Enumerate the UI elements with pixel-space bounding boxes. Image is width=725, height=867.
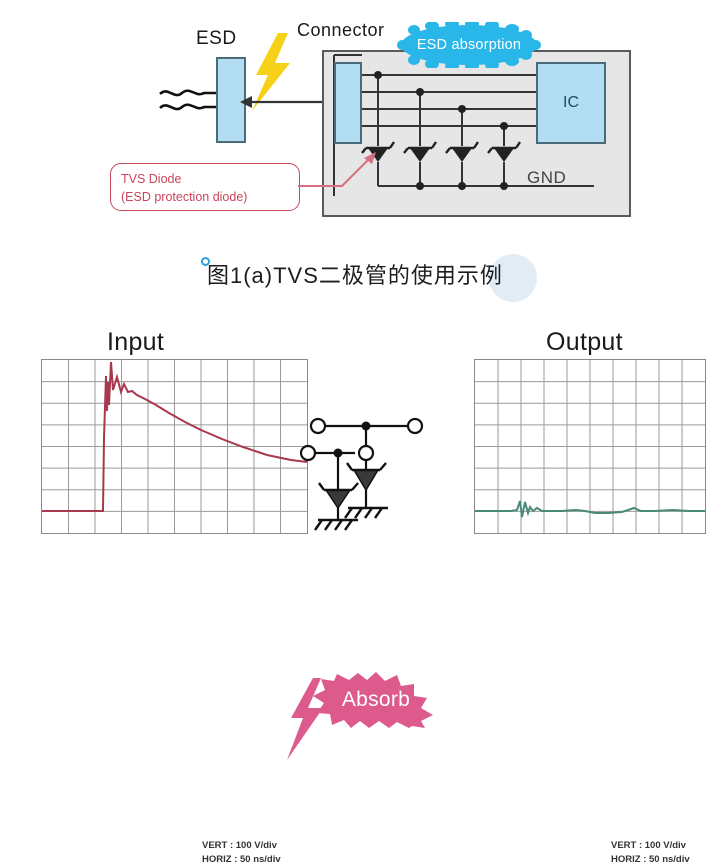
tvs-two-diode-schematic (300, 412, 430, 542)
absorb-badge-text: Absorb (313, 672, 439, 728)
tvs-diode-symbol (362, 142, 520, 162)
gnd-label: GND (527, 168, 566, 188)
tvs-callout-line2: (ESD protection diode) (121, 188, 299, 206)
input-scope-screen (41, 359, 308, 534)
input-scope-title: Input (107, 328, 164, 357)
tvs-diode-callout: TVS Diode (ESD protection diode) (110, 163, 300, 211)
absorb-badge: Absorb (313, 672, 439, 728)
output-scope-settings: VERT : 100 V/div HORIZ : 50 ns/div (611, 839, 690, 867)
output-waveform-plot (475, 360, 705, 533)
figure-1-board-diagram: ESD Connector (0, 0, 725, 240)
input-scope-settings: VERT : 100 V/div HORIZ : 50 ns/div (202, 839, 281, 867)
output-horiz-setting: HORIZ : 50 ns/div (611, 853, 690, 867)
output-scope-screen (474, 359, 706, 534)
tvs-callout-leader-line (298, 148, 380, 190)
esd-label: ESD (196, 28, 237, 50)
tvs-callout-line1: TVS Diode (121, 170, 299, 188)
input-horiz-setting: HORIZ : 50 ns/div (202, 853, 281, 867)
incoming-wavy-lines-icon (158, 82, 220, 116)
figure-caption: 图1(a)TVS二极管的使用示例 (207, 258, 503, 290)
connector-block (334, 62, 362, 144)
esd-absorption-badge: ESD absorption (394, 22, 544, 68)
ground-symbol (315, 508, 388, 530)
input-waveform-plot (42, 360, 307, 533)
connector-label: Connector (297, 20, 385, 41)
esd-absorption-badge-text: ESD absorption (394, 22, 544, 68)
ic-block: IC (536, 62, 606, 144)
figure-2-waveform-comparison: Input VERT : 100 V/div HORIZ : 50 ns/div (0, 320, 725, 571)
input-vert-setting: VERT : 100 V/div (202, 839, 281, 853)
output-vert-setting: VERT : 100 V/div (611, 839, 690, 853)
output-scope-title: Output (546, 328, 623, 357)
